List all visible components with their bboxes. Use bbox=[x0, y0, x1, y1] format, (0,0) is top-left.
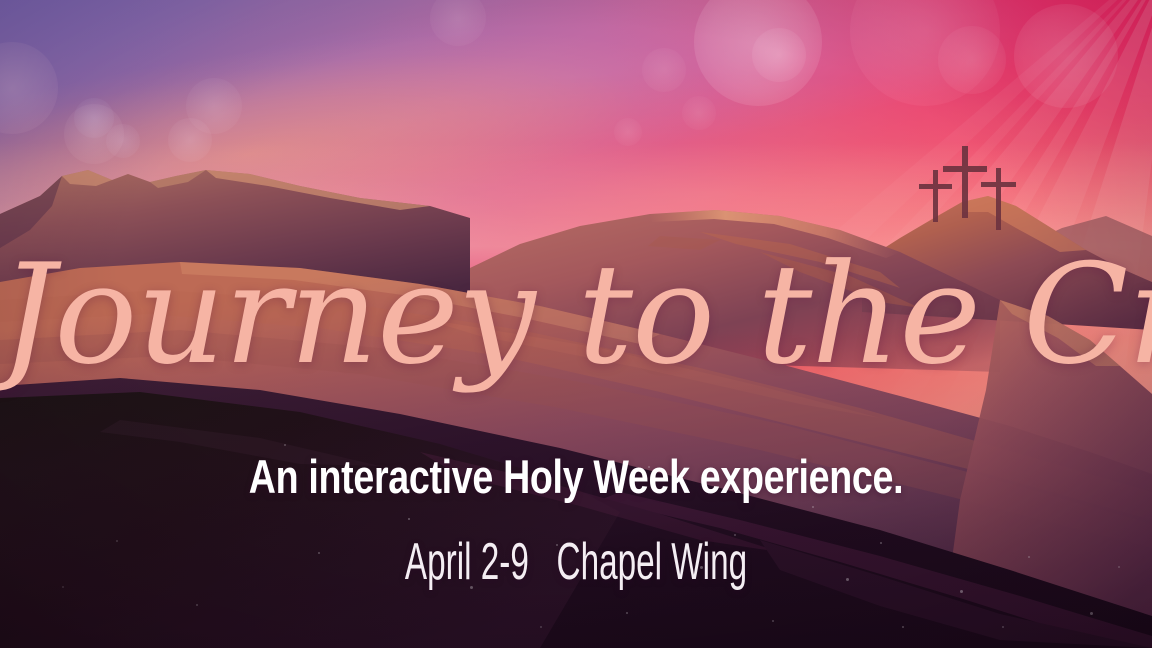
poster-title: Journey to the Cross bbox=[0, 246, 1152, 384]
poster-subtitle: An interactive Holy Week experience. bbox=[115, 452, 1037, 501]
poster-text-block: Journey to the Cross An interactive Holy… bbox=[0, 0, 1152, 648]
poster-date-location: April 2-9 Chapel Wing bbox=[207, 535, 944, 590]
poster-canvas: Journey to the Cross An interactive Holy… bbox=[0, 0, 1152, 648]
